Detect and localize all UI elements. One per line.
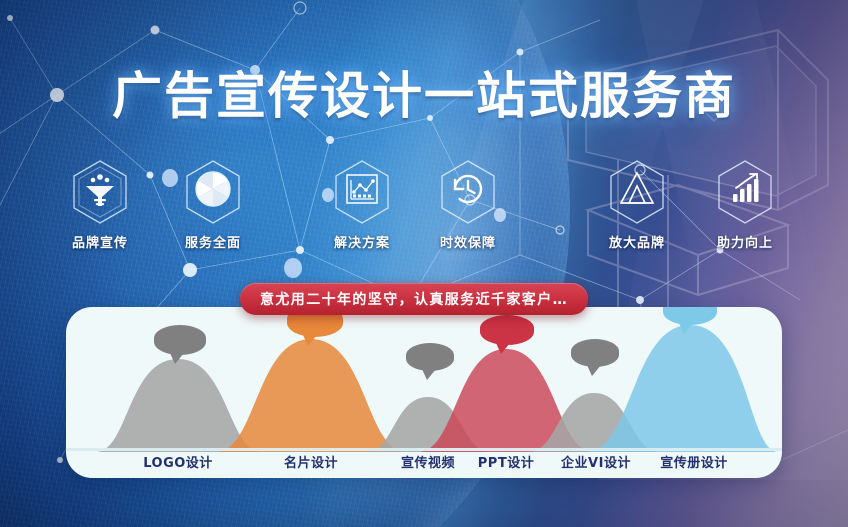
feature-label: 助力向上 bbox=[697, 232, 793, 251]
value-bubble-3: 320 bbox=[480, 315, 534, 345]
feature-item-brand-amplify[interactable]: 放大品牌 bbox=[589, 158, 685, 251]
feature-label: 服务全面 bbox=[165, 232, 261, 251]
bar-growth-icon bbox=[714, 158, 776, 226]
feature-label: 品牌宣传 bbox=[52, 232, 148, 251]
curve-0 bbox=[96, 359, 262, 452]
curve-1 bbox=[216, 339, 406, 452]
feature-label: 时效保障 bbox=[420, 232, 516, 251]
page-title: 广告宣传设计一站式服务商 bbox=[0, 56, 848, 128]
aperture-icon bbox=[182, 158, 244, 226]
clock-rewind-icon bbox=[437, 158, 499, 226]
feature-item-timeliness[interactable]: 时效保障 bbox=[420, 158, 516, 251]
category-label-0: LOGO设计 bbox=[118, 452, 238, 471]
megaphone-icon bbox=[69, 158, 131, 226]
category-label-5: 宣传册设计 bbox=[626, 452, 762, 471]
feature-item-brand-promotion[interactable]: 品牌宣传 bbox=[52, 158, 148, 251]
value-bubble-5: 560 bbox=[663, 307, 717, 325]
category-label-1: 名片设计 bbox=[251, 452, 371, 471]
chart-panel: 290 350 21 320 33 560 LOGO设计 名片设计 宣传视频 P… bbox=[66, 307, 782, 478]
chart-category-labels: LOGO设计 名片设计 宣传视频 PPT设计 企业VI设计 宣传册设计 bbox=[66, 452, 782, 474]
feature-label: 解决方案 bbox=[314, 232, 410, 251]
feature-item-solutions[interactable]: 解决方案 bbox=[314, 158, 410, 251]
chart-baseline bbox=[66, 448, 782, 451]
feature-label: 放大品牌 bbox=[589, 232, 685, 251]
feature-list: 品牌宣传 服务全面 bbox=[0, 158, 848, 250]
value-bubble-4: 33 bbox=[571, 339, 619, 367]
promo-banner: 意尤用二十年的坚守，认真服务近千家客户… bbox=[240, 283, 588, 315]
value-bubble-0: 290 bbox=[154, 325, 206, 355]
line-chart-icon bbox=[331, 158, 393, 226]
value-bubble-2: 21 bbox=[406, 343, 454, 371]
triangle-icon bbox=[606, 158, 668, 226]
feature-item-growth[interactable]: 助力向上 bbox=[697, 158, 793, 251]
feature-item-full-service[interactable]: 服务全面 bbox=[165, 158, 261, 251]
